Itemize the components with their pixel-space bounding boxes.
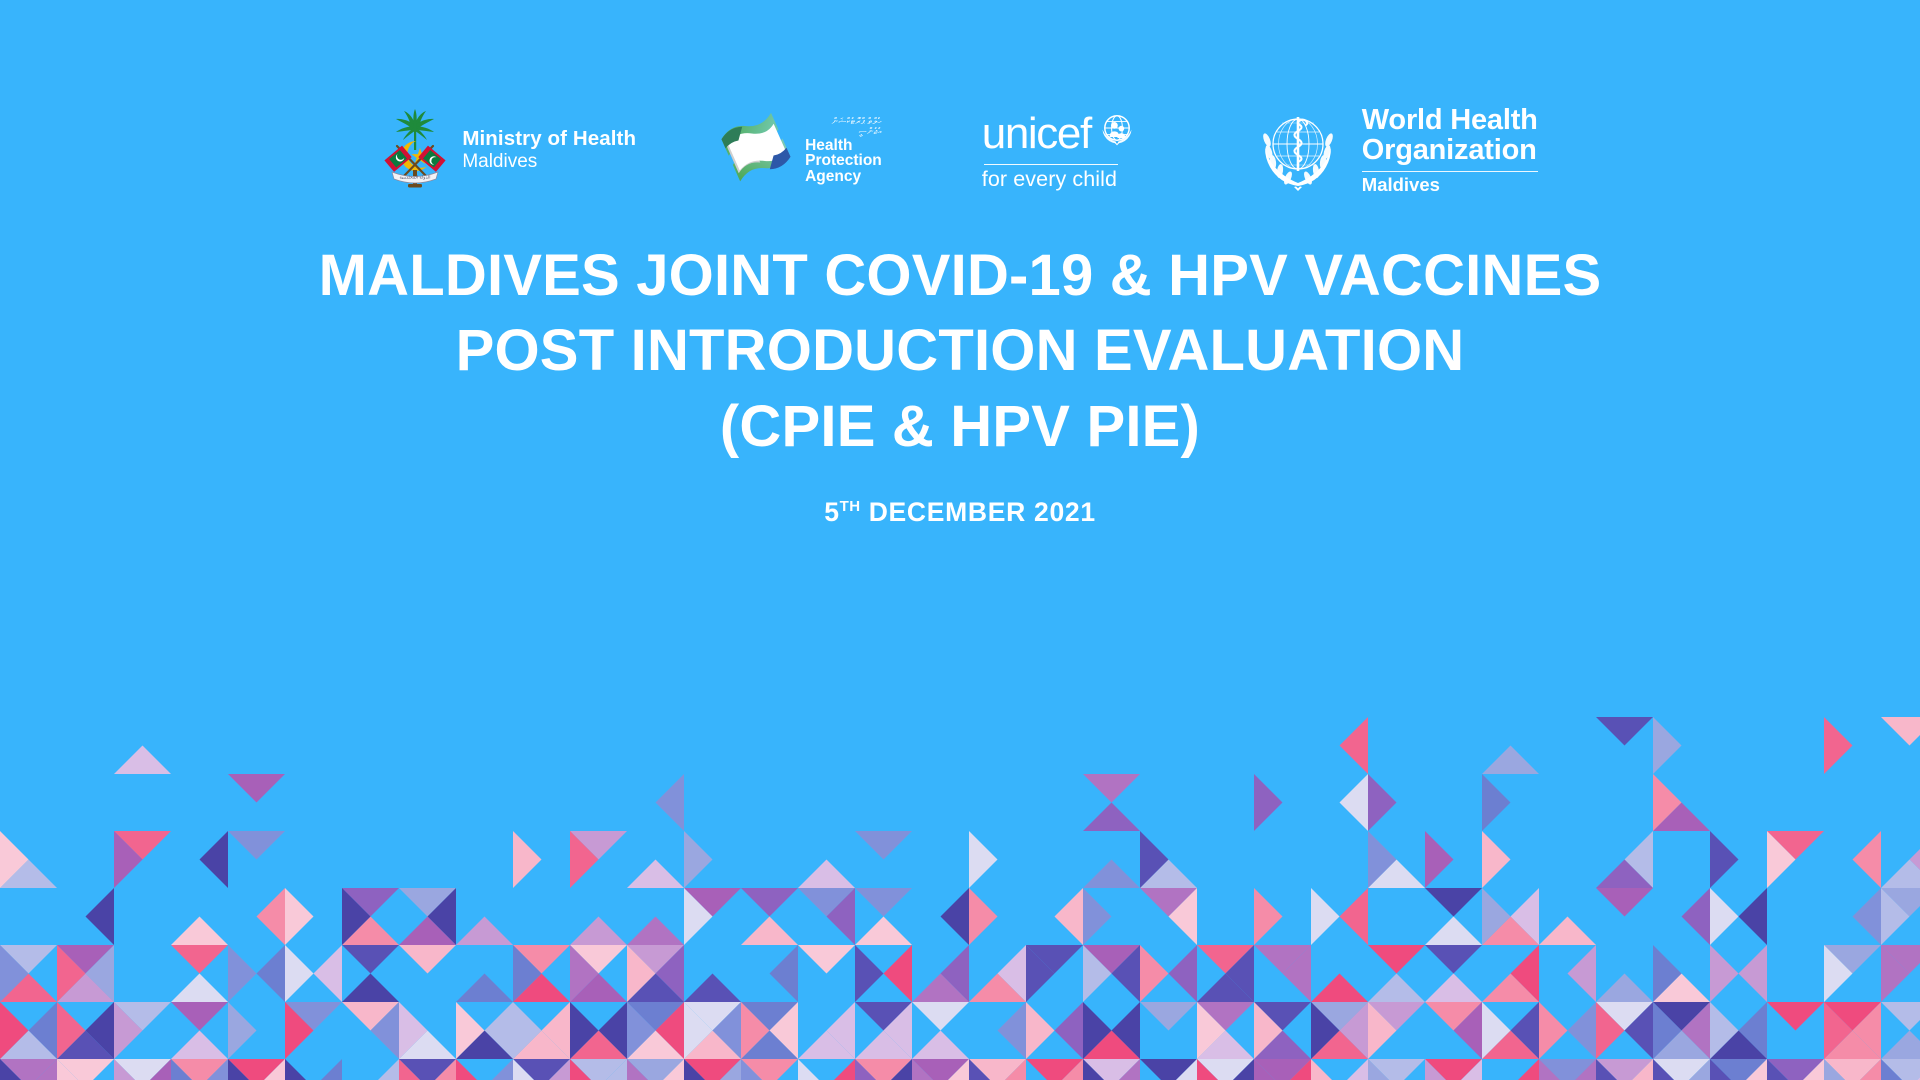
who-name: World Health Organization	[1362, 106, 1538, 166]
geometric-triangle-pattern	[0, 660, 1920, 1080]
title-block: MALDIVES JOINT COVID-19 & HPV VACCINES P…	[0, 238, 1920, 528]
maldives-national-emblem-icon: الدولة المحلدیبیة	[382, 104, 448, 197]
title-line-3: (CPIE & HPV PIE)	[0, 389, 1920, 464]
date-rest: DECEMBER 2021	[869, 497, 1096, 527]
date-day: 5	[824, 497, 839, 527]
unicef-globe-emblem-icon	[1096, 110, 1138, 157]
hpa-name: Health Protection Agency	[805, 138, 882, 185]
date-ordinal: TH	[840, 498, 861, 515]
unicef-tagline: for every child	[982, 169, 1117, 191]
unicef-divider	[984, 164, 1118, 165]
title-line-2: POST INTRODUCTION EVALUATION	[0, 313, 1920, 388]
ministry-of-health-title: Ministry of Health	[462, 127, 636, 151]
presentation-date: 5TH DECEMBER 2021	[0, 497, 1920, 528]
logo-health-protection-agency: ހެލްތް ޕްރޮޓެކްޝަން އެޖެންސީ Health Prot…	[714, 106, 882, 195]
who-emblem-icon	[1250, 100, 1346, 201]
page-title: MALDIVES JOINT COVID-19 & HPV VACCINES P…	[0, 238, 1920, 464]
hpa-logo-icon	[714, 106, 798, 195]
ministry-of-health-subtitle: Maldives	[462, 151, 636, 173]
hpa-dhivehi-script: ހެލްތް ޕްރޮޓެކްޝަން އެޖެންސީ	[805, 116, 882, 137]
who-divider	[1362, 171, 1538, 173]
title-line-1: MALDIVES JOINT COVID-19 & HPV VACCINES	[0, 238, 1920, 313]
who-subtitle: Maldives	[1362, 176, 1538, 195]
logo-who: World Health Organization Maldives	[1250, 100, 1538, 201]
logo-unicef: unicef	[982, 110, 1138, 191]
unicef-wordmark: unicef	[982, 113, 1091, 155]
logo-ministry-of-health: الدولة المحلدیبیة Ministry of Health Mal…	[382, 104, 636, 197]
logo-bar: الدولة المحلدیبیة Ministry of Health Mal…	[0, 100, 1920, 201]
